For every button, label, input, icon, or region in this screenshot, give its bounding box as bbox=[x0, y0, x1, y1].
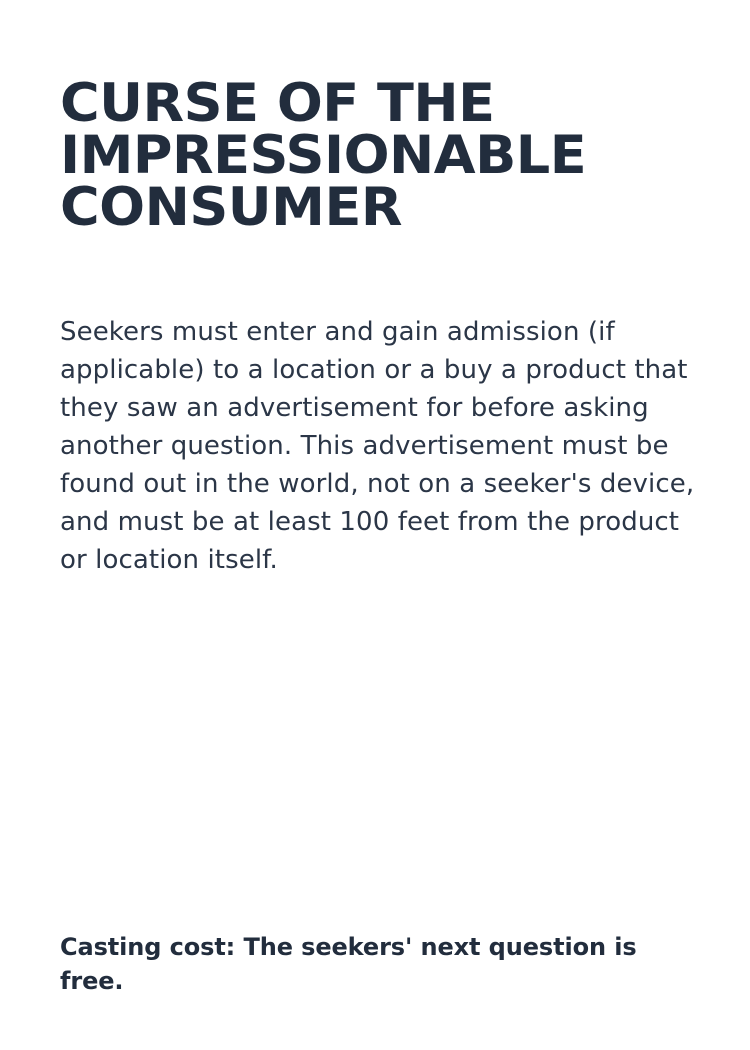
rule-card: Curse of the Impressionable Consumer See… bbox=[0, 0, 750, 1050]
card-content-column: Curse of the Impressionable Consumer See… bbox=[60, 0, 705, 1050]
card-casting-cost-text: Casting cost: The seekers' next question… bbox=[60, 930, 680, 998]
card-title: Curse of the Impressionable Consumer bbox=[60, 78, 718, 234]
card-description-text: Seekers must enter and gain admission (i… bbox=[60, 313, 710, 579]
